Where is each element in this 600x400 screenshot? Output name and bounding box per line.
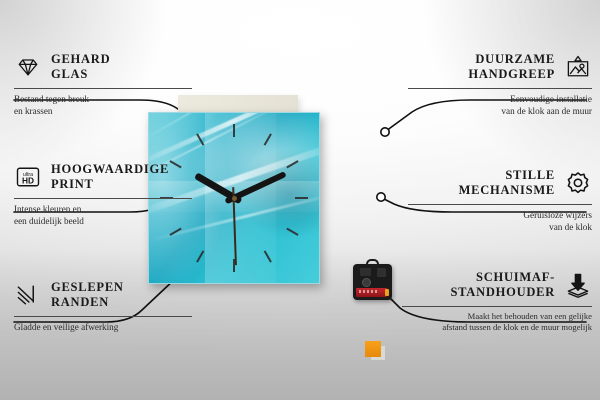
- feature-hoogwaardige-print: ultra HD HOOGWAARDIGE PRINT Intense kleu…: [14, 162, 192, 227]
- feature-stille-mechanisme: STILLE MECHANISME Geruisloze wijzers van…: [408, 168, 592, 233]
- mechanism-dial: [362, 278, 371, 287]
- foam-spacer: [365, 341, 381, 357]
- hanging-picture-frame-icon: [564, 53, 592, 81]
- feature-title: SCHUIMAF- STANDHOUDER: [450, 270, 555, 301]
- feature-head: GESLEPEN RANDEN: [14, 280, 192, 311]
- feature-desc: Maakt het behouden van een gelijke afsta…: [402, 311, 592, 334]
- ultra-hd-badge-icon: ultra HD: [14, 163, 42, 191]
- feature-desc: Gladde en veilige afwerking: [14, 321, 192, 333]
- feature-title: HOOGWAARDIGE PRINT: [51, 162, 169, 193]
- connector-node: [377, 193, 385, 201]
- hand-center-cap: [232, 196, 237, 201]
- divider: [14, 88, 192, 89]
- mechanism-body: [353, 264, 392, 300]
- feature-head: ultra HD HOOGWAARDIGE PRINT: [14, 162, 192, 193]
- diamond-icon: [14, 53, 42, 81]
- feature-geslepen-randen: GESLEPEN RANDEN Gladde en veilige afwerk…: [14, 280, 192, 333]
- feature-title: GESLEPEN RANDEN: [51, 280, 124, 311]
- feature-title: GEHARD GLAS: [51, 52, 110, 83]
- battery: [356, 288, 387, 297]
- feature-desc: Intense kleuren en een duidelijk beeld: [14, 203, 192, 228]
- feature-title: DUURZAME HANDGREEP: [468, 52, 555, 83]
- arrow-down-to-pad-icon: [564, 271, 592, 299]
- divider: [14, 316, 192, 317]
- feature-gehard-glas: GEHARD GLAS Bestand tegen breuk en krass…: [14, 52, 192, 117]
- feature-desc: Eenvoudige installatie van de klok aan d…: [408, 93, 592, 118]
- svg-text:HD: HD: [22, 176, 34, 186]
- battery-label: [359, 290, 377, 293]
- feature-head: DUURZAME HANDGREEP: [408, 52, 592, 83]
- hour-marker: [234, 197, 308, 199]
- divider: [402, 306, 592, 307]
- feature-desc: Geruisloze wijzers van de klok: [408, 209, 592, 234]
- feature-head: STILLE MECHANISME: [408, 168, 592, 199]
- clock-mechanism: [353, 264, 392, 300]
- divider: [14, 198, 192, 199]
- divider: [408, 88, 592, 89]
- feature-duurzame-handgreep: DUURZAME HANDGREEP Eenvoudige installati…: [408, 52, 592, 117]
- connector-node: [381, 128, 389, 136]
- feature-head: GEHARD GLAS: [14, 52, 192, 83]
- feature-title: STILLE MECHANISME: [459, 168, 555, 199]
- infographic-canvas: GEHARD GLAS Bestand tegen breuk en krass…: [0, 0, 600, 400]
- gear-icon: [564, 169, 592, 197]
- feature-desc: Bestand tegen breuk en krassen: [14, 93, 192, 118]
- diagonal-lines-icon: [14, 281, 42, 309]
- divider: [408, 204, 592, 205]
- feature-schuimafstandhouder: SCHUIMAF- STANDHOUDER Maakt het behouden…: [402, 270, 592, 334]
- feature-head: SCHUIMAF- STANDHOUDER: [402, 270, 592, 301]
